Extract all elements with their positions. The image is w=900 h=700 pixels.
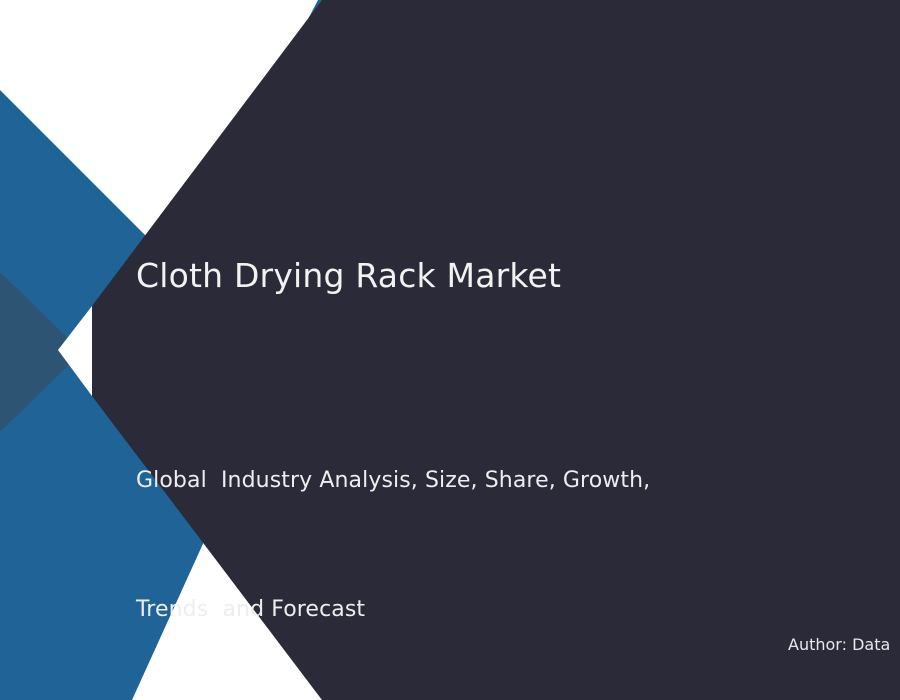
author-label: Author: Data bbox=[788, 633, 900, 657]
slide-subtitle: Global Industry Analysis, Size, Share, G… bbox=[136, 373, 836, 700]
subtitle-line-2: Trends and Forecast bbox=[136, 588, 836, 631]
page-title: Cloth Drying Rack Market bbox=[136, 255, 561, 296]
slide-content: Cloth Drying Rack Market Global Industry… bbox=[0, 0, 900, 700]
subtitle-line-1: Global Industry Analysis, Size, Share, G… bbox=[136, 459, 836, 502]
presentation-slide: Cloth Drying Rack Market Global Industry… bbox=[0, 0, 900, 700]
